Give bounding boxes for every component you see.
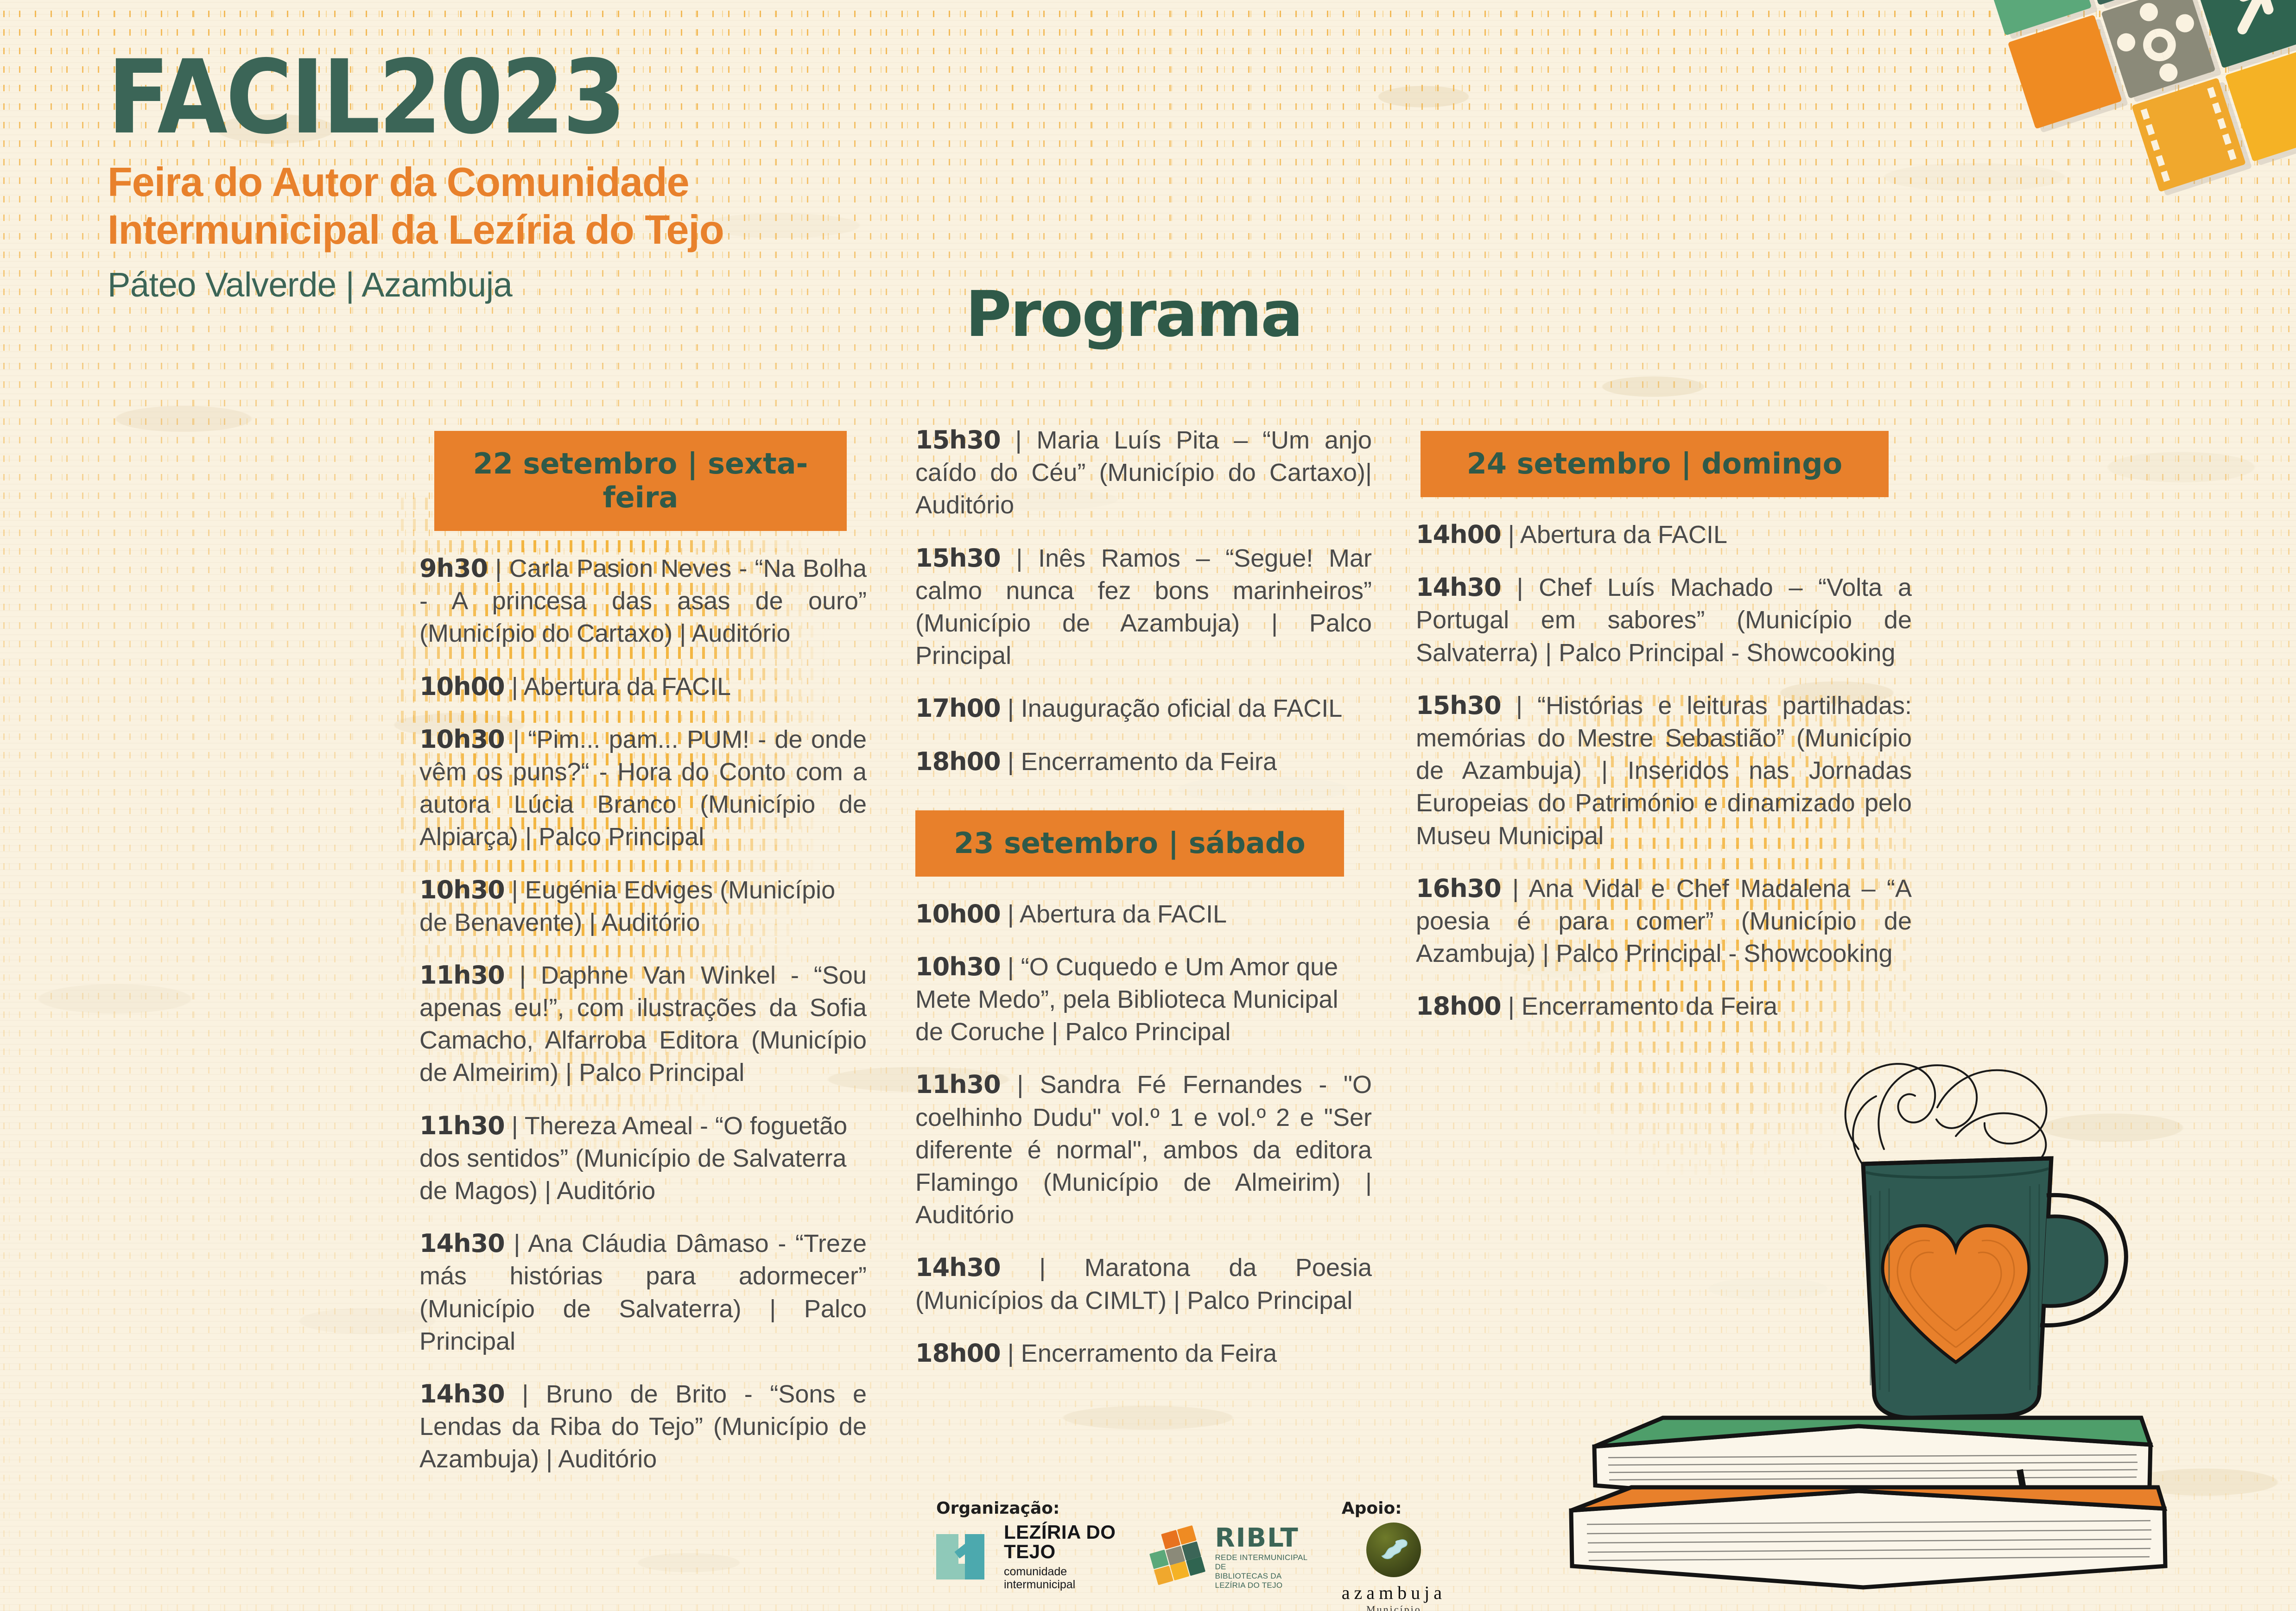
- event-time: 10h30: [419, 725, 505, 754]
- poster-subtitle-line2: Intermunicipal da Lezíria do Tejo: [108, 206, 988, 254]
- day-header-23-setembro: 23 setembro | sábado: [915, 810, 1344, 877]
- program-column-3: 24 setembro | domingo 14h00 | Abertura d…: [1416, 431, 1912, 1043]
- azambuja-name: azambuja: [1342, 1582, 1446, 1604]
- day-header-label: 22 setembro | sexta-feira: [473, 447, 808, 514]
- event-text: | Abertura da FACIL: [1508, 521, 1727, 549]
- riblt-text: RIBLT REDE INTERMUNICIPAL DE BIBLIOTECAS…: [1215, 1526, 1309, 1590]
- list-item: 10h30 | “Pim... pam... PUM! - de onde vê…: [419, 723, 867, 853]
- azambuja-sub: Município: [1366, 1604, 1421, 1611]
- footer-logos: Organização: LEZÍRIA DO TEJO comunidade …: [936, 1499, 1446, 1611]
- apoio-label: Apoio:: [1342, 1499, 1446, 1518]
- event-time: 14h30: [1416, 573, 1501, 602]
- list-item: 15h30 | Maria Luís Pita – “Um anjo caído…: [915, 424, 1372, 522]
- event-time: 11h30: [915, 1070, 1001, 1099]
- event-time: 16h30: [1416, 874, 1501, 903]
- tile-book-orange: [2008, 14, 2122, 129]
- poster-subtitle-line1: Feira do Autor da Comunidade: [108, 158, 988, 206]
- event-time: 14h30: [419, 1379, 505, 1409]
- day-header-24-setembro: 24 setembro | domingo: [1421, 431, 1889, 497]
- poster-title: FACIL2023: [108, 51, 988, 145]
- event-time: 17h00: [915, 694, 1001, 723]
- program-column-1: 22 setembro | sexta-feira 9h30 | Carla P…: [419, 431, 867, 1496]
- event-time: 10h00: [915, 899, 1001, 929]
- day-header-22-setembro: 22 setembro | sexta-feira: [434, 431, 847, 531]
- event-text: | Abertura da FACIL: [1008, 900, 1227, 928]
- tile-film-yellow: [2131, 78, 2246, 192]
- event-list-22-setembro-continued: 15h30 | Maria Luís Pita – “Um anjo caído…: [915, 424, 1372, 778]
- event-time: 10h30: [419, 875, 505, 904]
- list-item: 10h30 | Eugénia Edviges (Município de Be…: [419, 874, 867, 939]
- event-time: 11h30: [419, 1111, 505, 1140]
- cimlt-logo: LEZÍRIA DO TEJO comunidade intermunicipa…: [936, 1523, 1123, 1591]
- list-item: 14h30 | Chef Luís Machado – “Volta a Por…: [1416, 571, 1912, 669]
- azambuja-mark-icon: [1366, 1523, 1421, 1577]
- organizacao-label: Organização:: [936, 1499, 1123, 1518]
- cimlt-sub: comunidade intermunicipal: [1004, 1565, 1123, 1591]
- poster-subtitle: Feira do Autor da Comunidade Intermunici…: [108, 158, 988, 254]
- cimlt-sub-line1: comunidade: [1004, 1565, 1123, 1578]
- film-icon: [2131, 78, 2246, 192]
- list-item: 14h30 | Ana Cláudia Dâmaso - “Treze más …: [419, 1227, 867, 1358]
- event-time: 10h00: [419, 672, 505, 701]
- riblt-logo: RIBLT REDE INTERMUNICIPAL DE BIBLIOTECAS…: [1152, 1526, 1309, 1590]
- list-item: 15h30 | “Histórias e leituras partilhada…: [1416, 689, 1912, 852]
- event-text: | Encerramento da Feira: [1008, 1339, 1277, 1367]
- cimlt-mark-icon: [936, 1534, 994, 1579]
- event-time: 11h30: [419, 960, 505, 990]
- cimlt-sub-line2: intermunicipal: [1004, 1578, 1123, 1591]
- event-time: 9h30: [419, 554, 488, 583]
- list-item: 10h00 | Abertura da FACIL: [915, 898, 1372, 930]
- list-item: 18h00 | Encerramento da Feira: [915, 745, 1372, 778]
- list-item: 10h30 | “O Cuquedo e Um Amor que Mete Me…: [915, 951, 1372, 1049]
- event-time: 18h00: [915, 747, 1001, 776]
- riblt-sub-line2: BIBLIOTECAS DA LEZÍRIA DO TEJO: [1215, 1572, 1309, 1590]
- list-item: 11h30 | Daphne Van Winkel - “Sou apenas …: [419, 959, 867, 1089]
- event-time: 10h30: [915, 952, 1001, 981]
- riblt-sub: REDE INTERMUNICIPAL DE BIBLIOTECAS DA LE…: [1215, 1553, 1309, 1590]
- list-item: 10h00 | Abertura da FACIL: [419, 670, 867, 703]
- event-list-22-setembro: 9h30 | Carla Pasion Neves - “Na Bolha - …: [419, 552, 867, 1476]
- list-item: 15h30 | Inês Ramos – “Segue! Mar calmo n…: [915, 542, 1372, 672]
- list-item: 14h00 | Abertura da FACIL: [1416, 518, 1912, 551]
- event-text: | Inauguração oficial da FACIL: [1008, 695, 1342, 722]
- event-text: | Encerramento da Feira: [1008, 748, 1277, 776]
- list-item: 11h30 | Thereza Ameal - “O foguetão dos …: [419, 1110, 867, 1207]
- program-column-2: 15h30 | Maria Luís Pita – “Um anjo caído…: [915, 424, 1372, 1390]
- day-header-label: 23 setembro | sábado: [954, 826, 1305, 860]
- venue-text: Páteo Valverde | Azambuja: [108, 266, 988, 303]
- event-time: 18h00: [915, 1339, 1001, 1368]
- event-list-24-setembro: 14h00 | Abertura da FACIL 14h30 | Chef L…: [1416, 518, 1912, 1023]
- mug-with-heart-on-books-illustration: [1539, 954, 2197, 1603]
- cimlt-name: LEZÍRIA DO TEJO: [1004, 1523, 1123, 1561]
- list-item: 17h00 | Inauguração oficial da FACIL: [915, 692, 1372, 725]
- cimlt-text: LEZÍRIA DO TEJO comunidade intermunicipa…: [1004, 1523, 1123, 1591]
- event-text: | Abertura da FACIL: [512, 673, 731, 701]
- event-list-23-setembro: 10h00 | Abertura da FACIL 10h30 | “O Cuq…: [915, 898, 1372, 1370]
- program-heading: Programa: [965, 278, 1302, 351]
- list-item: 9h30 | Carla Pasion Neves - “Na Bolha - …: [419, 552, 867, 650]
- azambuja-logo: azambuja Município: [1342, 1523, 1446, 1611]
- apoio-block: Apoio: azambuja Município: [1342, 1499, 1446, 1611]
- list-item: 14h30 | Bruno de Brito - “Sons e Lendas …: [419, 1378, 867, 1476]
- footer-row: Organização: LEZÍRIA DO TEJO comunidade …: [936, 1499, 1446, 1611]
- decorative-tile-cluster: [1845, 0, 2296, 327]
- list-item: 11h30 | Sandra Fé Fernandes - "O coelhin…: [915, 1068, 1372, 1231]
- list-item: 14h30 | Maratona da Poesia (Municípios d…: [915, 1251, 1372, 1316]
- brand-block: FACIL2023 Feira do Autor da Comunidade I…: [108, 51, 988, 304]
- event-time: 15h30: [1416, 691, 1501, 720]
- riblt-tile-mark-icon: [1145, 1523, 1215, 1593]
- organizacao-block: Organização: LEZÍRIA DO TEJO comunidade …: [936, 1499, 1123, 1591]
- event-time: 14h00: [1416, 520, 1501, 549]
- list-item: 18h00 | Encerramento da Feira: [915, 1337, 1372, 1370]
- event-time: 15h30: [915, 425, 1001, 455]
- poster-canvas: FACIL2023 Feira do Autor da Comunidade I…: [0, 0, 2296, 1611]
- riblt-acronym: RIBLT: [1215, 1526, 1309, 1550]
- event-time: 14h30: [915, 1253, 1001, 1282]
- riblt-sub-line1: REDE INTERMUNICIPAL DE: [1215, 1553, 1309, 1572]
- event-time: 15h30: [915, 543, 1001, 573]
- event-time: 14h30: [419, 1229, 505, 1258]
- event-time: 18h00: [1416, 992, 1501, 1021]
- day-header-label: 24 setembro | domingo: [1467, 447, 1842, 480]
